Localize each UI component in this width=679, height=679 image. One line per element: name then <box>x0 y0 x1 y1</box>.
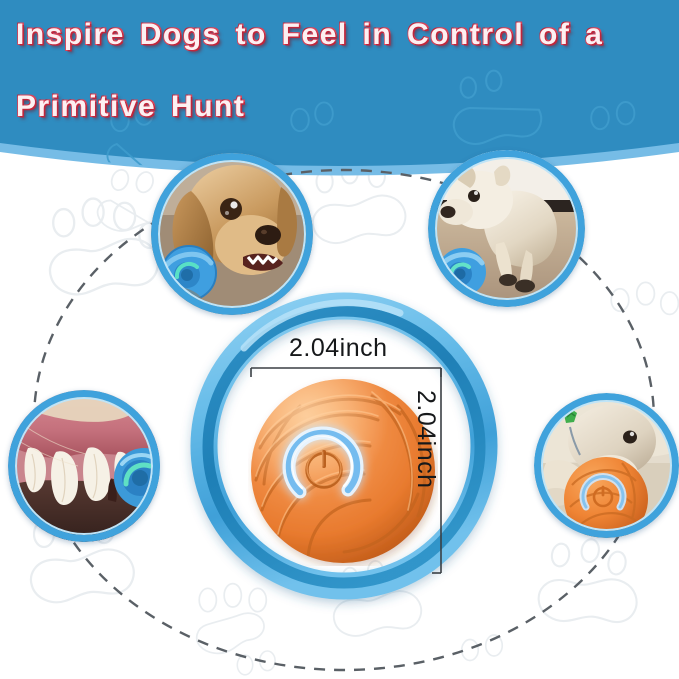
photo-dachshund-puppy <box>151 153 313 315</box>
product-infographic: Inspire Dogs to Feel in Control of a Pri… <box>0 0 679 679</box>
photo-bubble-dachshund-puppy[interactable] <box>151 153 313 315</box>
photo-cream-dog-orange-ball <box>534 393 679 538</box>
photo-bubble-terrier-standing[interactable] <box>428 150 585 307</box>
photo-dog-teeth <box>8 390 160 542</box>
photo-bubble-dog-teeth[interactable] <box>8 390 160 542</box>
photo-bubble-cream-dog-orange-ball[interactable] <box>534 393 679 538</box>
product-ball[interactable] <box>248 376 438 566</box>
blue-accent-ring <box>0 0 679 679</box>
photo-terrier-standing <box>428 150 585 307</box>
